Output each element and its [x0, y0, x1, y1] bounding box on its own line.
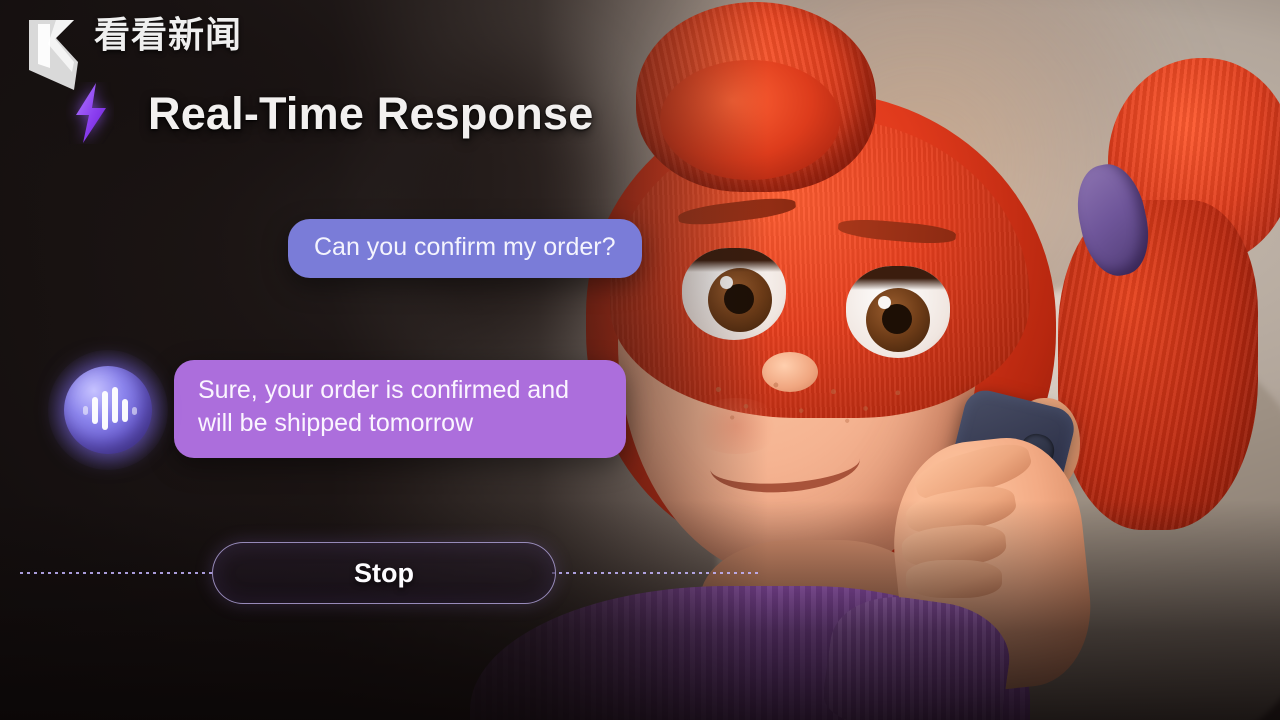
chat-bubble-assistant: Sure, your order is confirmed and will b…: [174, 360, 626, 458]
screen-root: 看看新闻 Real-Time Response Can you confirm …: [0, 0, 1280, 720]
assistant-avatar: [64, 366, 152, 454]
progress-rail-right: [552, 572, 762, 574]
ui-overlay: 看看新闻 Real-Time Response Can you confirm …: [0, 0, 1280, 720]
brand-logo-text: 看看新闻: [94, 18, 242, 54]
brand-logo: 看看新闻: [26, 18, 242, 92]
kankan-k-logo-icon: [26, 18, 82, 92]
stop-button[interactable]: Stop: [212, 542, 556, 604]
lightning-bolt-icon: [66, 82, 114, 144]
assistant-message-row: Sure, your order is confirmed and will b…: [64, 360, 626, 458]
voice-waveform-icon: [64, 366, 152, 454]
page-title: Real-Time Response: [148, 88, 593, 140]
chat-bubble-user: Can you confirm my order?: [288, 219, 642, 278]
progress-rail-left: [20, 572, 216, 574]
